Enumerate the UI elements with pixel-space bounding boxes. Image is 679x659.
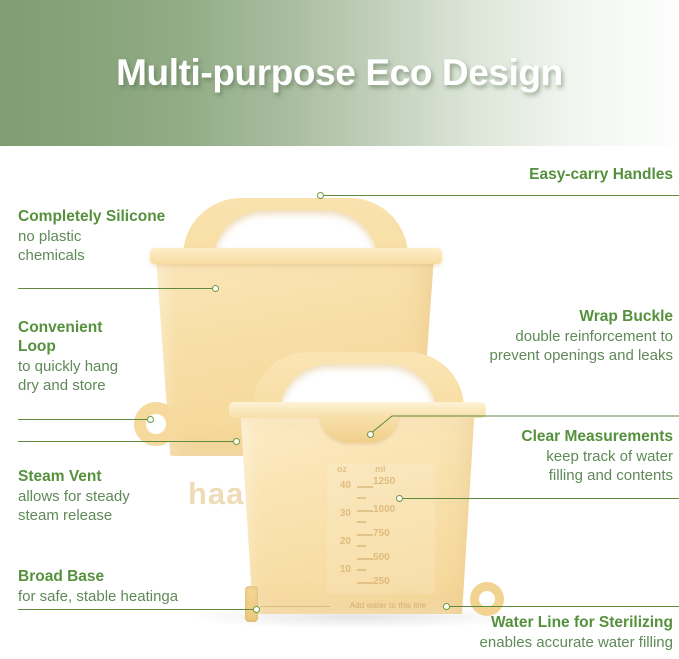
callout-title-easy-carry-handles: Easy-carry Handles [373,166,673,185]
measure-oz-40: 40 [327,480,351,491]
callout-sub-clear-measurements: keep track of water filling and contents [373,447,673,486]
connector-clear-measurements [403,498,679,499]
callout-title-broad-base: Broad Base [18,568,278,587]
measure-ml-500: 500 [373,552,407,563]
callout-broad-base: Broad Base for safe, stable heatinga [18,568,278,606]
callout-steam-vent: Steam Vent allows for steady steam relea… [18,468,248,526]
header-banner: Multi-purpose Eco Design [0,0,679,146]
callout-title-convenient-loop: Convenient Loop [18,319,248,357]
measure-ml-250: 250 [373,576,407,587]
callout-title-clear-measurements: Clear Measurements [373,428,673,447]
measure-ml-750: 750 [373,528,407,539]
dot-easy-carry-handles [317,192,324,199]
measure-unit-oz: oz [337,464,347,474]
measure-oz-20: 20 [327,536,351,547]
callout-sub-broad-base: for safe, stable heatinga [18,587,278,607]
measure-ml-1000: 1000 [373,504,407,515]
callout-sub-steam-vent: allows for steady steam release [18,487,248,526]
dot-completely-silicone [212,285,219,292]
water-line-label: Add water to this line [330,601,446,610]
callout-title-water-line: Water Line for Sterilizing [353,614,673,633]
callout-sub-water-line: enables accurate water filling [353,633,673,653]
callout-sub-completely-silicone: no plastic chemicals [18,227,268,266]
callout-clear-measurements: Clear Measurements keep track of water f… [373,428,673,486]
dot-convenient-loop [147,416,154,423]
connector-convenient-loop [18,419,150,420]
measure-oz-30: 30 [327,508,351,519]
callout-completely-silicone: Completely Silicone no plastic chemicals [18,208,268,266]
page-title: Multi-purpose Eco Design [116,52,563,94]
callout-title-steam-vent: Steam Vent [18,468,248,487]
callout-sub-wrap-buckle: double reinforcement to prevent openings… [373,327,673,366]
connector-broad-base [18,609,256,610]
dot-clear-measurements [396,495,403,502]
callout-title-wrap-buckle: Wrap Buckle [373,308,673,327]
connector-easy-carry-handles [324,195,679,196]
dot-broad-base [253,606,260,613]
connector-steam-vent [18,441,236,442]
front-bag-loop [470,582,504,616]
dot-water-line [443,603,450,610]
hanging-loop-icon [134,402,178,446]
callout-easy-carry-handles: Easy-carry Handles [373,166,673,185]
callout-sub-convenient-loop: to quickly hang dry and store [18,357,248,396]
infographic-stage: haakaa oz ml 1250 40 1000 30 750 20 500 [0,146,679,659]
callout-convenient-loop: Convenient Loop to quickly hang dry and … [18,319,248,396]
callout-wrap-buckle: Wrap Buckle double reinforcement to prev… [373,308,673,366]
callout-water-line: Water Line for Sterilizing enables accur… [353,614,673,652]
dot-steam-vent [233,438,240,445]
connector-completely-silicone [18,288,216,289]
measure-oz-10: 10 [327,564,351,575]
callout-title-completely-silicone: Completely Silicone [18,208,268,227]
connector-water-line [450,606,679,607]
